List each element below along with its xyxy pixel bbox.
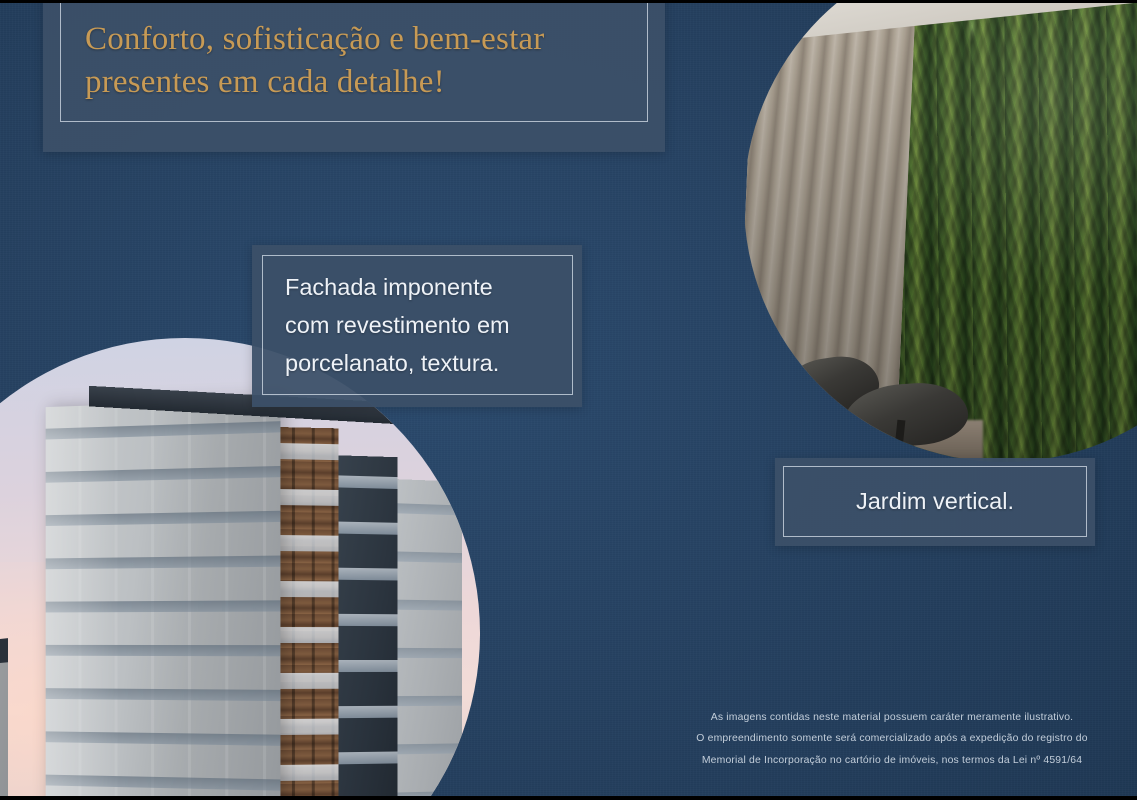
bottom-edge-bar [0,796,1137,800]
disclaimer-line-2: O empreendimento somente será comerciali… [672,728,1112,749]
disclaimer-line-1: As imagens contidas neste material possu… [672,707,1112,728]
building-main-tower [46,399,281,800]
fachada-callout-border: Fachada imponente com revestimento em po… [262,255,573,395]
top-edge-bar [0,0,1137,3]
jardim-callout-panel: Jardim vertical. [775,458,1095,546]
neighbor-building-left [0,663,8,800]
building-tower-edge-light [46,405,115,800]
fachada-callout-text: Fachada imponente com revestimento em po… [263,268,532,382]
jardim-callout-text: Jardim vertical. [856,488,1014,515]
headline-panel: Conforto, sofisticação e bem-estar prese… [43,0,665,152]
disclaimer-line-3: Memorial de Incorporação no cartório de … [672,750,1112,771]
headline-panel-border: Conforto, sofisticação e bem-estar prese… [60,0,648,122]
fachada-callout-panel: Fachada imponente com revestimento em po… [252,245,582,407]
vertical-garden-scene [744,0,1137,462]
marketing-slide: Conforto, sofisticação e bem-estar prese… [0,0,1137,800]
building-facade-photo [0,338,480,800]
headline-text: Conforto, sofisticação e bem-estar prese… [61,18,568,104]
vertical-garden-photo [744,0,1137,462]
legal-disclaimer: As imagens contidas neste material possu… [672,707,1112,771]
jardim-callout-border: Jardim vertical. [783,466,1087,537]
